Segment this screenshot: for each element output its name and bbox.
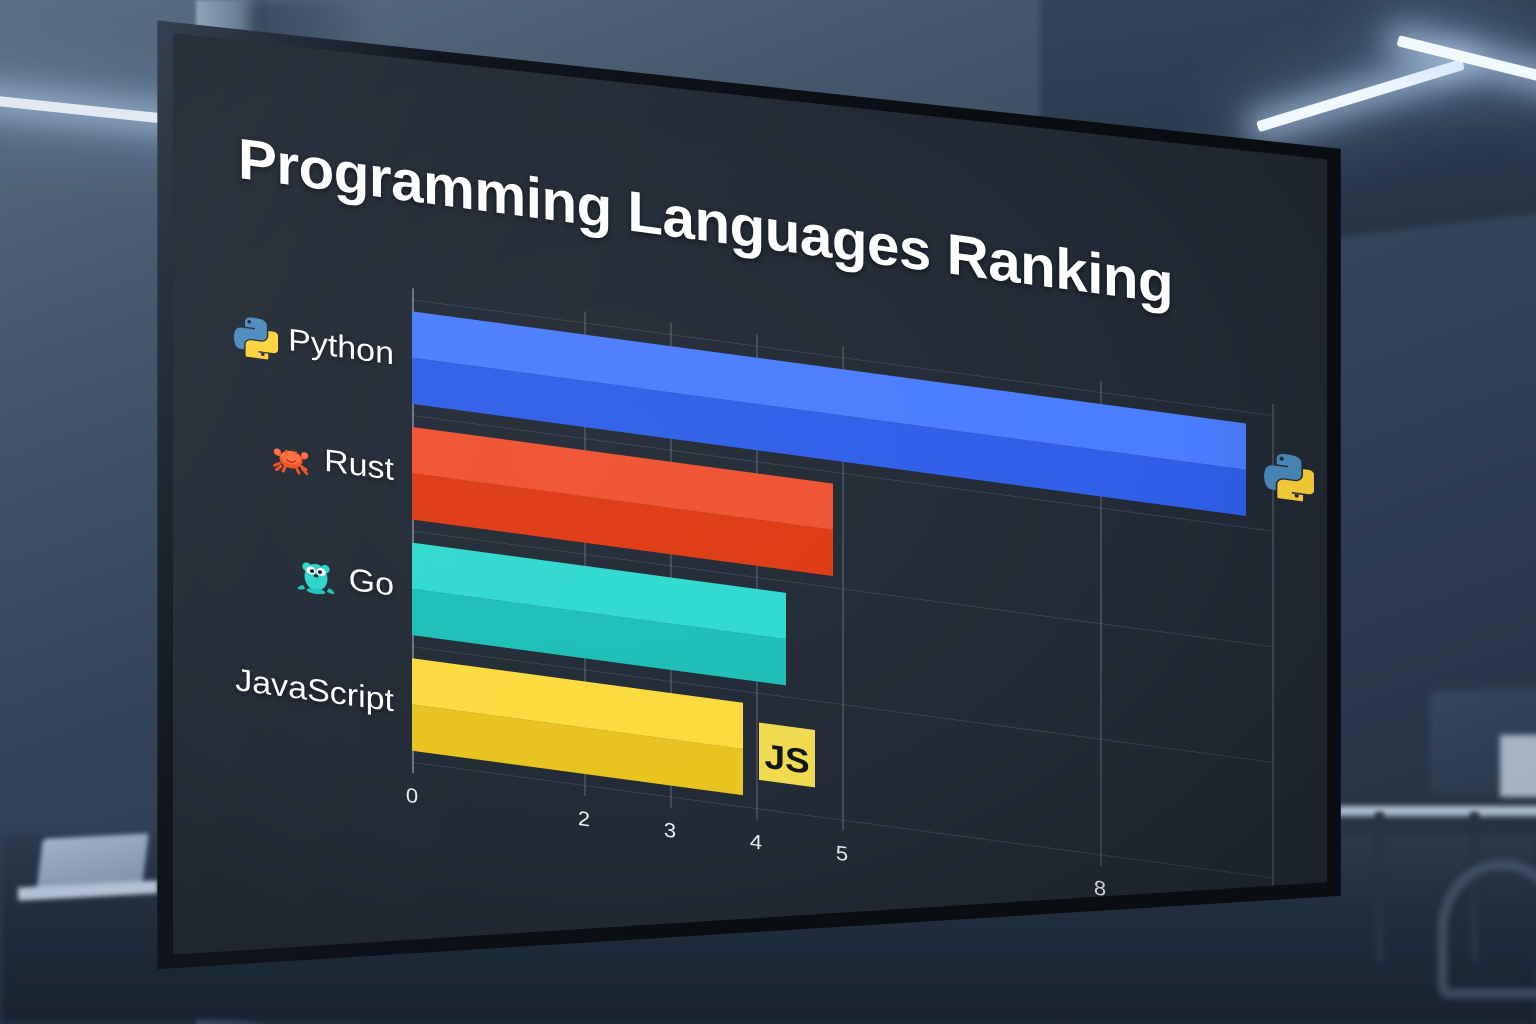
x-axis-tick-label: 4 (750, 829, 762, 855)
python-logo (232, 312, 278, 361)
office-scene: Programming Languages Ranking 02345810 P… (0, 0, 1536, 1024)
category-label-text: JavaScript (235, 662, 394, 719)
background-monitor-secondary (1500, 735, 1536, 797)
x-axis-tick-label: 5 (836, 841, 848, 867)
js-badge-text: JS (759, 722, 815, 787)
page-title: Programming Languages Ranking (238, 126, 1173, 317)
x-axis-tick-label: 2 (578, 806, 590, 832)
background-desk-surface (1318, 806, 1536, 816)
category-label-text: Python (288, 322, 394, 372)
x-axis-tick-label: 3 (664, 818, 676, 844)
gopher-icon (293, 551, 339, 600)
category-label-text: Rust (324, 443, 394, 488)
bar-javascript[interactable] (412, 658, 743, 795)
bar-go[interactable] (412, 542, 786, 685)
chart-canvas: Programming Languages Ranking 02345810 P… (152, 22, 1348, 973)
category-label-rust: Rust (268, 407, 394, 516)
category-label-python: Python (232, 287, 394, 401)
x-axis-tick-label: 0 (406, 783, 418, 809)
crab-icon (268, 432, 314, 481)
js-badge-icon: JS (759, 722, 815, 787)
category-label-text: Go (349, 562, 394, 604)
python-logo (1262, 447, 1314, 502)
display-screen: Programming Languages Ranking 02345810 P… (152, 8, 1348, 973)
plot-area: 02345810 Python Rust (412, 299, 1272, 877)
category-label-go: Go (293, 526, 394, 632)
background-desk-leg (1375, 812, 1384, 962)
x-axis-tick-label: 10 (1260, 898, 1284, 925)
wall-display: Programming Languages Ranking 02345810 P… (152, 8, 1348, 973)
category-label-javascript: JavaScript (235, 634, 394, 748)
